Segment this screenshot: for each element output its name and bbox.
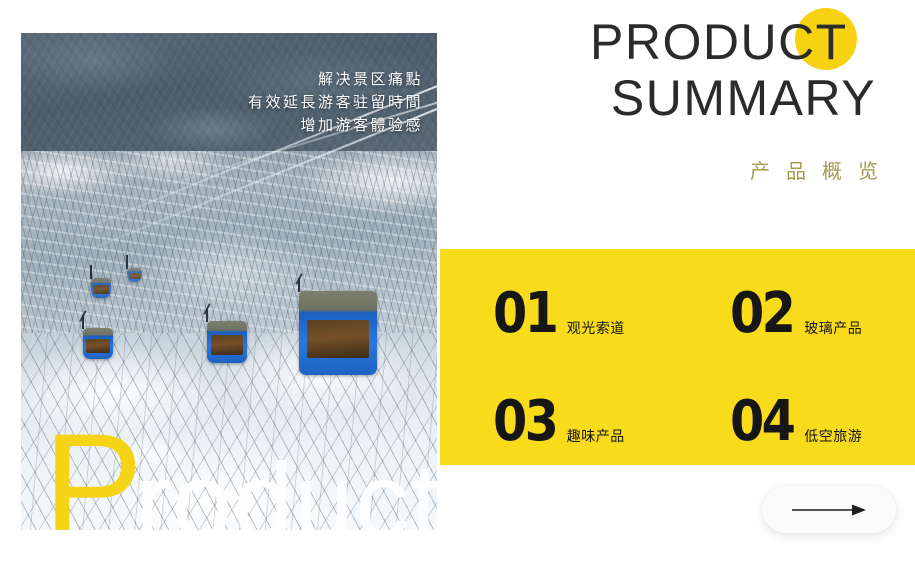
page-title-line-2: SUMMARY: [590, 70, 915, 126]
gondola-hanger: [126, 255, 128, 269]
photo-caption-line-3: 增加游客體验感: [248, 115, 423, 138]
photo-caption: 解决景区痛點 有效延長游客驻留時間 增加游客體验感: [248, 69, 423, 138]
product-items-grid: 01 观光索道 02 玻璃产品 03 趣味产品 04 低空旅游: [440, 249, 915, 465]
photo-caption-line-2: 有效延長游客驻留時間: [248, 92, 423, 115]
page-subtitle: 产品概览: [590, 155, 894, 184]
product-items-panel: 01 观光索道 02 玻璃产品 03 趣味产品 04 低空旅游: [440, 249, 915, 465]
product-item-04[interactable]: 04 低空旅游: [678, 357, 915, 465]
next-slide-button[interactable]: [762, 486, 896, 533]
gondola-hanger: [90, 265, 92, 279]
gondola-body: [91, 278, 111, 298]
product-item-content: 03 趣味产品: [493, 397, 625, 447]
slide-product-summary: 解决景区痛點 有效延長游客驻留時間 增加游客體验感 P roduct PRODU…: [0, 0, 915, 567]
product-item-label: 低空旅游: [804, 426, 862, 447]
product-item-label: 观光索道: [567, 318, 625, 339]
page-title: PRODUCT SUMMARY: [590, 14, 915, 126]
hero-photo: 解决景区痛點 有效延長游客驻留時間 增加游客體验感 P roduct: [21, 33, 437, 530]
product-item-content: 01 观光索道: [493, 289, 625, 339]
product-item-label: 玻璃产品: [804, 318, 862, 339]
gondola-body: [299, 291, 377, 375]
product-item-number: 01: [493, 289, 556, 339]
product-item-content: 02 玻璃产品: [730, 289, 862, 339]
product-item-number: 04: [730, 397, 793, 447]
product-item-01[interactable]: 01 观光索道: [440, 249, 678, 357]
gondola-hanger: [298, 278, 300, 292]
gondola-body: [127, 268, 142, 282]
product-item-number: 03: [493, 397, 556, 447]
gondola-body: [83, 328, 113, 359]
product-item-number: 02: [730, 289, 793, 339]
product-item-content: 04 低空旅游: [730, 397, 862, 447]
product-item-03[interactable]: 03 趣味产品: [440, 357, 678, 465]
gondola-hanger: [82, 315, 84, 329]
arrow-right-icon: [790, 503, 868, 517]
photo-caption-line-1: 解决景区痛點: [248, 69, 423, 92]
product-item-label: 趣味产品: [567, 426, 625, 447]
product-item-02[interactable]: 02 玻璃产品: [678, 249, 915, 357]
gondola-hanger: [206, 308, 208, 322]
gondola-body: [207, 321, 247, 363]
page-title-line-1: PRODUCT: [590, 14, 915, 70]
